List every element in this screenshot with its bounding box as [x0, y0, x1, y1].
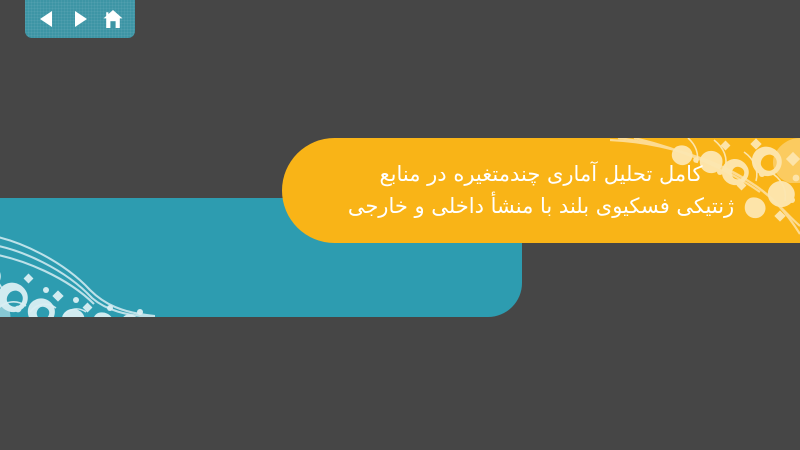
- navigation-bar: [25, 0, 135, 38]
- slide-canvas: کامل تحلیل آماری چندمتغیره در منابع ژنتی…: [0, 0, 800, 450]
- title-banner: کامل تحلیل آماری چندمتغیره در منابع ژنتی…: [282, 138, 800, 243]
- title-line-1: کامل تحلیل آماری چندمتغیره در منابع: [379, 159, 702, 191]
- home-icon: [103, 10, 123, 29]
- arabesque-ornament-teal: [0, 212, 155, 317]
- title-line-2: ژنتیکی فسکیوی بلند با منشأ داخلی و خارجی: [348, 191, 734, 223]
- triangle-right-icon: [72, 10, 88, 28]
- back-button[interactable]: [34, 6, 60, 32]
- home-button[interactable]: [100, 6, 126, 32]
- forward-button[interactable]: [67, 6, 93, 32]
- triangle-left-icon: [39, 10, 55, 28]
